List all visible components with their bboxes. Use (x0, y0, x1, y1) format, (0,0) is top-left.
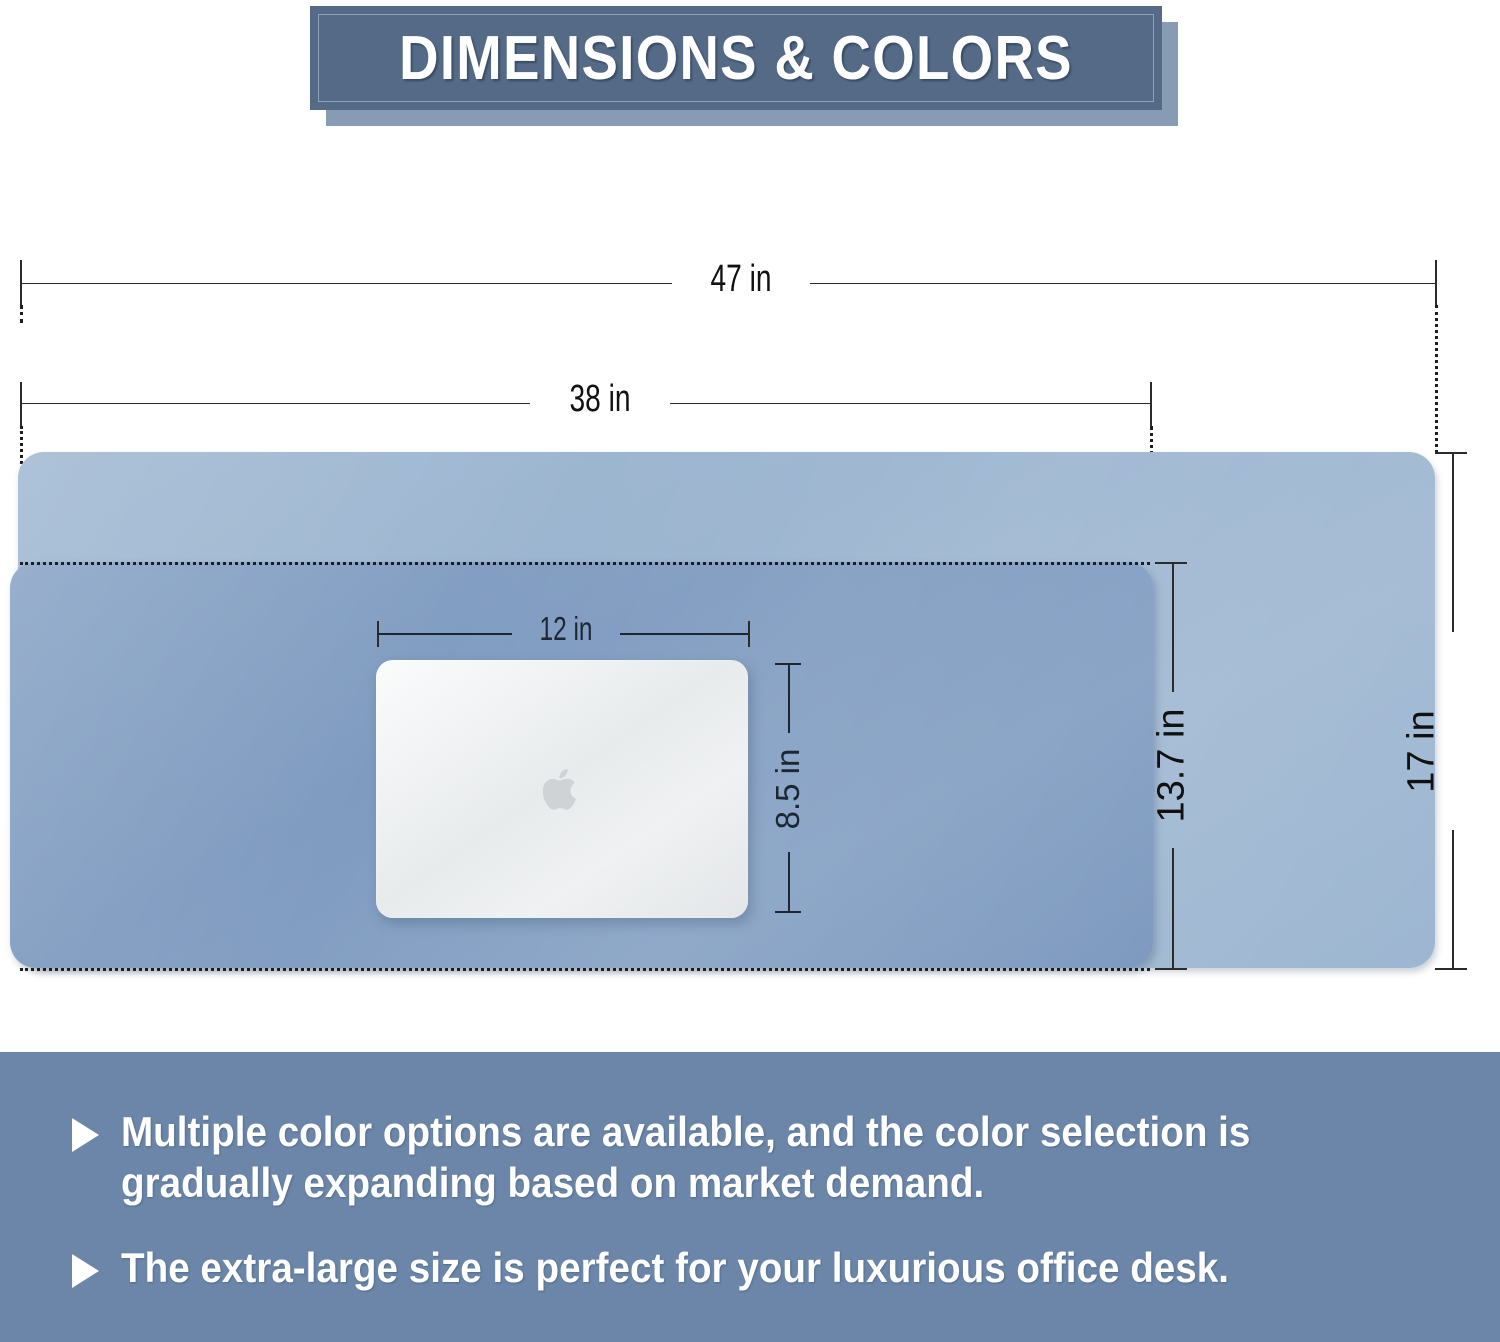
dim-47in-label: 47 in (690, 258, 792, 301)
dim-47in-line-right (810, 283, 1435, 284)
list-item: The extra-large size is perfect for your… (72, 1242, 1442, 1293)
dim-12in-line-right (620, 633, 748, 635)
dim-17in-bottom-tick (1435, 968, 1467, 970)
dim-8-5in-label: 8.5 in (769, 729, 807, 849)
dim-38in-line-right (670, 403, 1150, 404)
dim-47in-right-tick (1435, 260, 1437, 305)
small-mat-top-edge-guide (20, 562, 1150, 565)
feature-text: Multiple color options are available, an… (121, 1106, 1336, 1208)
dim-12in-label: 12 in (526, 610, 606, 648)
feature-text: The extra-large size is perfect for your… (121, 1242, 1229, 1293)
dim-13-7in-label: 13.7 in (1151, 676, 1194, 856)
triangle-right-icon (72, 1118, 99, 1152)
dim-47in-left-extension (20, 305, 23, 323)
dim-47in-right-extension (1435, 305, 1438, 453)
title-banner: DIMENSIONS & COLORS (310, 6, 1162, 110)
dim-13-7in-top-tick (1155, 562, 1187, 564)
triangle-right-icon (72, 1254, 99, 1288)
dim-38in-label: 38 in (548, 378, 652, 421)
dim-17in-top-tick (1435, 452, 1467, 454)
apple-logo-icon (539, 761, 585, 817)
list-item: Multiple color options are available, an… (72, 1106, 1442, 1208)
small-mat-bottom-edge-guide (20, 968, 1150, 971)
dim-8-5in-line-top (788, 663, 790, 733)
feature-panel: Multiple color options are available, an… (0, 1052, 1500, 1342)
dim-8-5in-line-bottom (788, 852, 790, 912)
dim-13-7in-bottom-tick (1155, 968, 1187, 970)
desk-mat-dimension-diagram: 47 in 38 in 12 in 8.5 in 13.7 in (0, 130, 1500, 1040)
dim-13-7in-line-top (1172, 562, 1174, 692)
dim-38in-line-left (20, 403, 530, 404)
dim-17in-line-bottom (1452, 830, 1454, 968)
dim-13-7in-line-bottom (1172, 848, 1174, 968)
feature-list: Multiple color options are available, an… (72, 1106, 1442, 1328)
dim-12in-line-left (377, 633, 512, 635)
dim-38in-left-tick (20, 382, 22, 426)
dim-17in-line-top (1452, 452, 1454, 632)
dim-12in-right-tick (748, 621, 750, 647)
dim-17in-label: 17 in (1401, 662, 1444, 842)
laptop[interactable] (376, 660, 748, 918)
dim-38in-right-tick (1150, 382, 1152, 426)
dim-47in-line-left (20, 283, 672, 284)
page-title: DIMENSIONS & COLORS (361, 6, 1111, 110)
